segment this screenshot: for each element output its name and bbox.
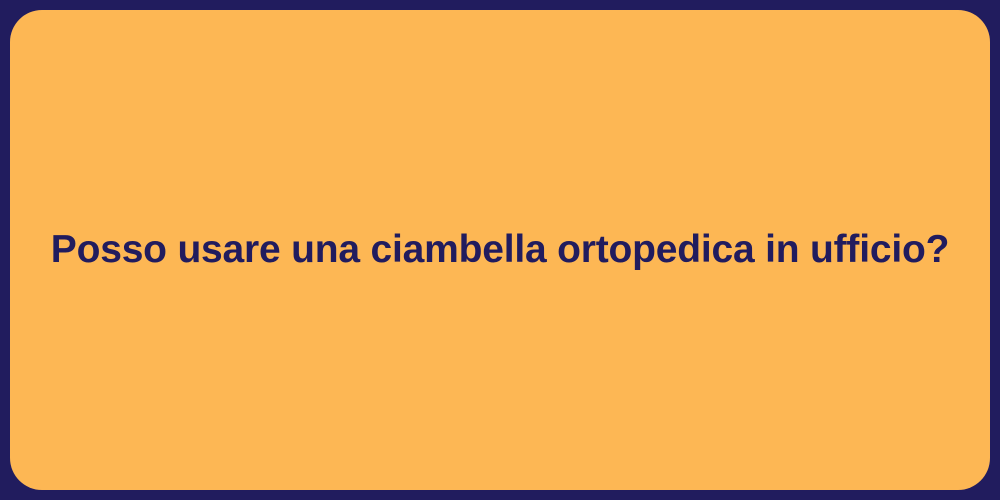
page-title: Posso usare una ciambella ortopedica in … [23,226,977,275]
banner-card: Posso usare una ciambella ortopedica in … [10,10,990,490]
banner-frame: Posso usare una ciambella ortopedica in … [0,0,1000,500]
